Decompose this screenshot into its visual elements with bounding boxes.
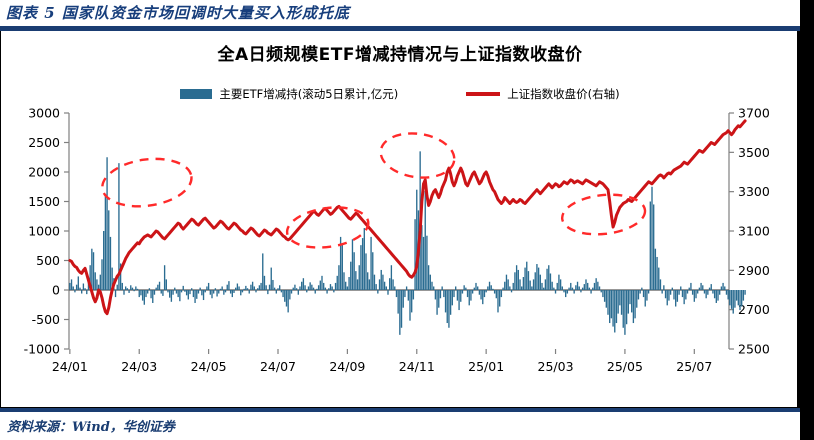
bar xyxy=(463,285,464,290)
figure-title: 图表 5 国家队资金市场回调时大量买入形成托底 xyxy=(6,2,350,23)
bar xyxy=(485,290,486,292)
bar xyxy=(338,265,339,290)
bar xyxy=(480,290,481,299)
bar xyxy=(318,285,319,290)
bar xyxy=(531,286,532,290)
bar xyxy=(496,290,497,298)
bar xyxy=(303,278,304,290)
bar xyxy=(181,290,182,292)
bar xyxy=(179,290,180,301)
bar xyxy=(683,290,684,304)
bar xyxy=(174,288,175,290)
right-axis-label: 2900 xyxy=(738,263,770,278)
bar xyxy=(282,290,283,297)
bar xyxy=(369,279,370,290)
bar xyxy=(504,282,505,290)
bar xyxy=(127,288,128,290)
bar xyxy=(105,196,106,290)
bar xyxy=(428,265,429,290)
right-axis-label: 2500 xyxy=(738,342,770,357)
bar xyxy=(117,285,118,290)
bar xyxy=(479,290,480,295)
bar xyxy=(216,290,217,296)
bar xyxy=(433,286,434,290)
bar xyxy=(492,289,493,290)
bar xyxy=(408,290,409,301)
bar xyxy=(96,279,97,290)
bar xyxy=(326,290,327,294)
bar xyxy=(682,290,683,297)
bar xyxy=(353,252,354,290)
chart-svg: 300025002000150010005000-500-10003700350… xyxy=(1,31,799,408)
x-axis-label: 24/11 xyxy=(399,359,435,374)
bar xyxy=(594,283,595,290)
bar xyxy=(110,237,111,290)
bar xyxy=(245,286,246,290)
bar xyxy=(382,275,383,290)
bar xyxy=(379,279,380,290)
bar xyxy=(719,290,720,295)
bar xyxy=(524,268,525,290)
bar xyxy=(83,284,84,290)
bar xyxy=(639,290,640,294)
bar xyxy=(355,271,356,290)
bar xyxy=(206,286,207,290)
bar xyxy=(228,281,229,290)
bar xyxy=(455,286,456,290)
bar xyxy=(252,282,253,290)
bar xyxy=(130,285,131,290)
bar xyxy=(567,290,568,294)
bar xyxy=(108,210,109,290)
bar xyxy=(249,290,250,294)
bar xyxy=(521,286,522,290)
bar xyxy=(345,282,346,290)
bar xyxy=(716,290,717,303)
bar xyxy=(450,290,451,315)
bar xyxy=(286,290,287,307)
x-axis-label: 24/09 xyxy=(329,359,365,374)
bar xyxy=(142,290,143,301)
bar xyxy=(697,290,698,294)
bar xyxy=(176,290,177,294)
bar xyxy=(523,277,524,290)
bar xyxy=(509,286,510,290)
bar xyxy=(563,290,564,292)
bar xyxy=(565,290,566,297)
bar xyxy=(541,283,542,290)
bar xyxy=(242,290,243,292)
bar xyxy=(199,288,200,290)
bar xyxy=(545,279,546,290)
bar xyxy=(678,290,679,295)
bar xyxy=(360,245,361,290)
bar xyxy=(323,283,324,290)
bar xyxy=(447,290,448,323)
bar xyxy=(601,290,602,292)
bar xyxy=(612,290,613,327)
bar xyxy=(660,279,661,290)
bar xyxy=(299,286,300,290)
bar xyxy=(406,286,407,290)
left-axis-label: 3000 xyxy=(28,106,60,121)
x-axis-label: 24/01 xyxy=(52,359,88,374)
bar xyxy=(293,288,294,290)
bar xyxy=(648,290,649,294)
bar xyxy=(304,285,305,290)
bar xyxy=(680,286,681,290)
bar xyxy=(284,290,285,302)
right-axis-label: 2700 xyxy=(738,302,770,317)
x-axis-label: 25/05 xyxy=(607,359,643,374)
bar xyxy=(580,290,581,292)
bar xyxy=(183,286,184,290)
left-axis-label: -1000 xyxy=(24,342,60,357)
bar xyxy=(389,278,390,290)
bar xyxy=(572,288,573,290)
bar xyxy=(254,286,255,290)
bar xyxy=(457,290,458,301)
bar xyxy=(587,283,588,290)
bar xyxy=(191,288,192,290)
bar xyxy=(469,290,470,305)
bar xyxy=(264,276,265,290)
bar xyxy=(401,290,402,328)
bar xyxy=(194,290,195,303)
bar xyxy=(438,290,439,308)
bar xyxy=(672,288,673,290)
bar xyxy=(247,288,248,290)
bar xyxy=(619,290,620,305)
bar xyxy=(435,290,436,299)
bar xyxy=(218,290,219,294)
bar xyxy=(628,290,629,314)
bar xyxy=(394,286,395,290)
bar xyxy=(670,290,671,295)
right-axis-label: 3500 xyxy=(738,145,770,160)
bar xyxy=(448,290,449,328)
bar xyxy=(364,228,365,290)
bar xyxy=(223,290,224,295)
bar xyxy=(205,290,206,292)
bar xyxy=(313,288,314,290)
bar xyxy=(426,236,427,290)
bar xyxy=(668,290,669,301)
bar xyxy=(727,290,728,299)
bar xyxy=(269,285,270,290)
bar xyxy=(731,290,732,309)
bar xyxy=(502,288,503,290)
right-axis-label: 3700 xyxy=(738,106,770,121)
bar xyxy=(125,286,126,290)
bar xyxy=(656,257,657,290)
bar xyxy=(235,288,236,290)
bar xyxy=(137,289,138,290)
bar xyxy=(403,290,404,308)
bar xyxy=(123,290,124,295)
bar xyxy=(470,290,471,301)
bar xyxy=(692,290,693,295)
bar xyxy=(597,282,598,290)
bar xyxy=(724,286,725,290)
chart-header: 图表 5 国家队资金市场回调时大量买入形成托底 xyxy=(0,0,800,26)
bar xyxy=(365,253,366,290)
bar xyxy=(262,253,263,290)
bar xyxy=(198,290,199,294)
bar xyxy=(154,290,155,295)
bar xyxy=(381,270,382,290)
bar xyxy=(699,288,700,290)
bar xyxy=(342,244,343,290)
bar xyxy=(636,290,637,308)
bar xyxy=(220,289,221,290)
bar xyxy=(443,290,444,297)
bar xyxy=(145,290,146,297)
bar xyxy=(734,290,735,308)
bar xyxy=(392,279,393,290)
bar xyxy=(333,290,334,292)
left-axis-label: 500 xyxy=(36,253,60,268)
bar xyxy=(717,290,718,301)
bar xyxy=(240,290,241,295)
bar xyxy=(526,262,527,290)
bar xyxy=(651,187,652,290)
bar xyxy=(309,282,310,290)
bar xyxy=(296,288,297,290)
bar xyxy=(167,290,168,292)
bar xyxy=(558,275,559,290)
bar xyxy=(528,271,529,290)
bar xyxy=(350,262,351,290)
bar xyxy=(331,286,332,290)
bar xyxy=(352,239,353,290)
bar xyxy=(232,290,233,297)
bar xyxy=(211,290,212,298)
bar xyxy=(507,279,508,290)
bar xyxy=(474,288,475,290)
bar xyxy=(477,286,478,290)
bar xyxy=(164,265,165,290)
bar xyxy=(411,290,412,312)
bar xyxy=(704,290,705,294)
left-axis-label: -500 xyxy=(32,312,60,327)
bar xyxy=(529,281,530,290)
bar xyxy=(514,272,515,290)
bar xyxy=(694,290,695,302)
bar xyxy=(291,290,292,294)
bar xyxy=(555,290,556,294)
bar xyxy=(162,290,163,296)
bar xyxy=(73,286,74,290)
bar xyxy=(462,290,463,294)
bar xyxy=(78,276,79,290)
bar xyxy=(689,288,690,290)
bar xyxy=(404,290,405,297)
bar xyxy=(325,288,326,290)
bar xyxy=(150,290,151,298)
bar xyxy=(421,225,422,290)
bar xyxy=(709,288,710,290)
bar xyxy=(617,290,618,314)
bar xyxy=(511,290,512,292)
bar xyxy=(482,290,483,304)
bar xyxy=(453,290,454,297)
bar xyxy=(599,286,600,290)
bar xyxy=(147,290,148,294)
bar xyxy=(265,285,266,290)
bar xyxy=(69,283,70,290)
bar xyxy=(550,273,551,290)
bar xyxy=(238,286,239,290)
bar xyxy=(391,265,392,290)
bar xyxy=(135,286,136,290)
bar xyxy=(106,157,107,290)
bar xyxy=(306,290,307,292)
bar xyxy=(465,288,466,290)
x-axis-label: 24/07 xyxy=(260,359,296,374)
bar xyxy=(738,290,739,305)
bar xyxy=(203,290,204,300)
bar xyxy=(721,286,722,290)
bar xyxy=(573,290,574,294)
source-text: 资料来源：Wind，华创证券 xyxy=(7,416,175,435)
bar xyxy=(646,290,647,301)
bar xyxy=(210,290,211,295)
right-axis-label: 3100 xyxy=(738,224,770,239)
bar xyxy=(546,269,547,290)
bar xyxy=(157,285,158,290)
bar xyxy=(274,288,275,290)
bar xyxy=(702,285,703,290)
bar xyxy=(387,290,388,295)
bar xyxy=(193,290,194,297)
bar xyxy=(736,290,737,301)
bar xyxy=(74,290,75,292)
bar xyxy=(86,290,87,294)
bar xyxy=(667,290,668,305)
bar xyxy=(614,290,615,332)
bar xyxy=(595,278,596,290)
bar xyxy=(233,290,234,293)
bar xyxy=(491,285,492,290)
bar xyxy=(243,289,244,290)
left-axis-label: 2000 xyxy=(28,165,60,180)
bar xyxy=(308,286,309,290)
bar xyxy=(663,285,664,290)
bar xyxy=(629,290,630,304)
bar xyxy=(650,202,651,291)
bar xyxy=(543,288,544,290)
bar xyxy=(677,290,678,302)
bar xyxy=(589,288,590,290)
bar xyxy=(540,275,541,290)
bar xyxy=(673,290,674,299)
plot-area: 300025002000150010005000-500-10003700350… xyxy=(1,31,799,408)
bar xyxy=(171,290,172,302)
bar xyxy=(690,283,691,290)
bar xyxy=(626,290,627,324)
bar xyxy=(321,276,322,290)
bar xyxy=(579,286,580,290)
bar xyxy=(743,290,744,301)
bar xyxy=(279,285,280,290)
bar xyxy=(196,290,197,299)
bar xyxy=(316,289,317,290)
bar xyxy=(386,286,387,290)
bar xyxy=(602,290,603,297)
bar xyxy=(337,276,338,290)
bar xyxy=(621,290,622,315)
bar xyxy=(213,290,214,294)
bar xyxy=(518,270,519,290)
bar xyxy=(362,238,363,290)
bar xyxy=(582,288,583,290)
x-axis-label: 24/03 xyxy=(121,359,157,374)
bar xyxy=(616,290,617,323)
bar xyxy=(733,290,734,314)
bar xyxy=(535,272,536,290)
bar xyxy=(370,237,371,290)
bar xyxy=(396,290,397,297)
bar xyxy=(431,282,432,290)
bar xyxy=(661,290,662,294)
bar xyxy=(311,285,312,290)
bar xyxy=(79,288,80,290)
bar xyxy=(557,283,558,290)
bar xyxy=(260,283,261,290)
bar xyxy=(128,290,129,293)
bar xyxy=(631,290,632,312)
bar xyxy=(584,284,585,290)
bar xyxy=(519,279,520,290)
bar xyxy=(357,279,358,290)
bar xyxy=(633,290,634,323)
bar xyxy=(132,288,133,290)
bar xyxy=(348,277,349,290)
bar-series xyxy=(69,151,746,334)
bar xyxy=(430,275,431,290)
bar xyxy=(161,290,162,294)
bar xyxy=(367,272,368,290)
bar xyxy=(425,191,426,290)
x-axis-label: 25/01 xyxy=(468,359,504,374)
annotation-ellipse xyxy=(99,153,194,211)
bar xyxy=(472,290,473,294)
bar xyxy=(149,288,150,290)
bar xyxy=(533,279,534,290)
bar xyxy=(548,265,549,290)
bar xyxy=(115,290,116,297)
bar xyxy=(95,272,96,290)
bar xyxy=(397,290,398,314)
bar xyxy=(103,231,104,290)
bar xyxy=(590,290,591,294)
bar xyxy=(606,290,607,308)
bar xyxy=(658,268,659,290)
bar xyxy=(487,286,488,290)
left-axis-label: 0 xyxy=(52,283,60,298)
bar xyxy=(359,265,360,290)
bar xyxy=(272,280,273,290)
bar xyxy=(384,282,385,290)
bar xyxy=(101,259,102,290)
bar xyxy=(320,281,321,290)
bar xyxy=(714,290,715,298)
bar xyxy=(707,290,708,295)
bar xyxy=(460,290,461,302)
bar xyxy=(570,283,571,290)
bar xyxy=(374,275,375,290)
